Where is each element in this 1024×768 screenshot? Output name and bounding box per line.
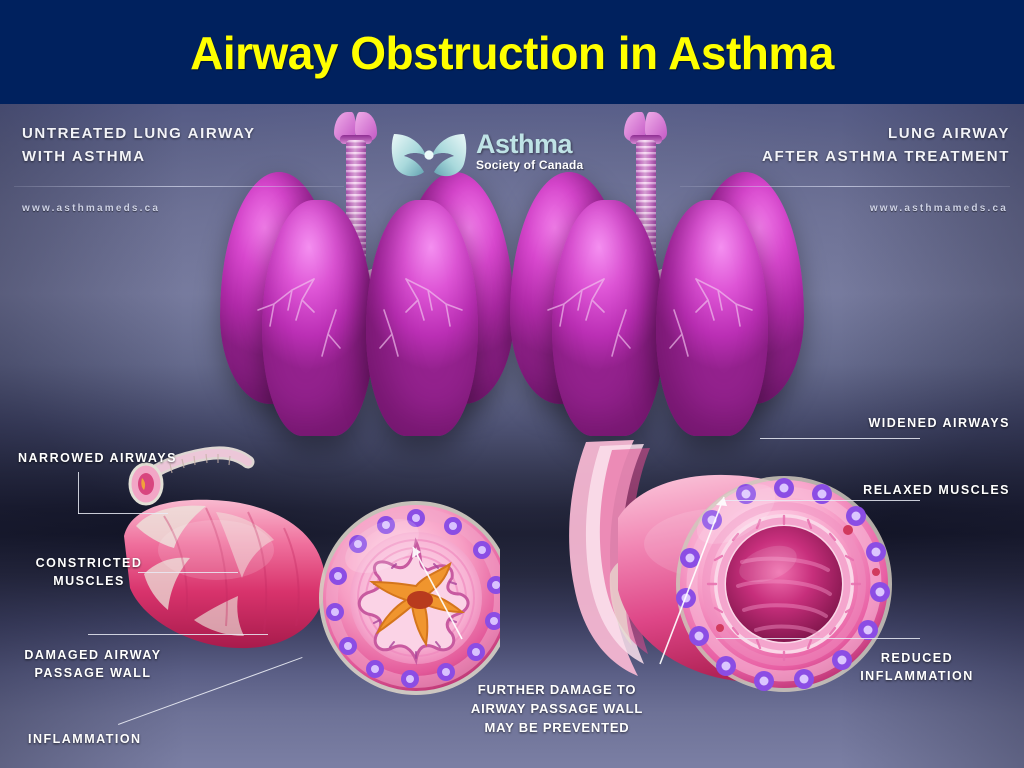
leader-narrowed-horizontal	[78, 513, 168, 514]
callout-reduced-line1: REDUCED	[822, 649, 1012, 667]
center-caption-line1: FURTHER DAMAGE TO	[432, 680, 682, 699]
slide-root: Airway Obstruction in Asthma	[0, 0, 1024, 768]
callout-reduced-line2: INFLAMMATION	[822, 667, 1012, 685]
callout-further-damage-prevented: FURTHER DAMAGE TO AIRWAY PASSAGE WALL MA…	[432, 680, 682, 737]
logo-tagline-text: Society of Canada	[476, 158, 583, 173]
header-right-line1: LUNG AIRWAY	[762, 122, 1010, 145]
leader-widened	[760, 438, 920, 439]
asthma-society-logo[interactable]: Asthma Society of Canada	[390, 126, 640, 192]
header-left-line1: UNTREATED LUNG AIRWAY	[22, 122, 256, 145]
logo-asthma-text: Asthma	[476, 130, 583, 158]
callout-damaged-line2: PASSAGE WALL	[8, 664, 178, 682]
page-title: Airway Obstruction in Asthma	[0, 30, 1024, 76]
callout-reduced-inflammation: REDUCED INFLAMMATION	[822, 649, 1012, 685]
leader-damaged	[88, 634, 268, 635]
callout-damaged-wall: DAMAGED AIRWAY PASSAGE WALL	[8, 646, 178, 682]
center-caption-line3: MAY BE PREVENTED	[432, 718, 682, 737]
leader-constricted	[138, 572, 238, 573]
header-label-right: LUNG AIRWAY AFTER ASTHMA TREATMENT	[762, 122, 1010, 168]
callout-damaged-line1: DAMAGED AIRWAY	[8, 646, 178, 664]
illustration-canvas: UNTREATED LUNG AIRWAY WITH ASTHMA LUNG A…	[0, 104, 1024, 768]
url-left[interactable]: www.asthmameds.ca	[22, 203, 160, 214]
leader-relaxed	[724, 500, 920, 501]
callout-widened-airways: WIDENED AIRWAYS	[780, 414, 1010, 432]
header-divider-left	[14, 186, 344, 187]
callout-constricted-line2: MUSCLES	[14, 572, 164, 590]
logo-wordmark: Asthma Society of Canada	[476, 130, 583, 173]
leader-narrowed-vertical	[78, 472, 79, 514]
header-label-left: UNTREATED LUNG AIRWAY WITH ASTHMA	[22, 122, 256, 168]
callout-constricted-line1: CONSTRICTED	[14, 554, 164, 572]
leader-reduced	[716, 638, 920, 639]
butterfly-logo-icon	[390, 128, 468, 190]
callout-relaxed-muscles: RELAXED MUSCLES	[780, 481, 1010, 499]
header-divider-right	[680, 186, 1010, 187]
header-left-line2: WITH ASTHMA	[22, 145, 256, 168]
header-right-line2: AFTER ASTHMA TREATMENT	[762, 145, 1010, 168]
callout-narrowed-airways: NARROWED AIRWAYS	[18, 449, 177, 467]
center-caption-line2: AIRWAY PASSAGE WALL	[432, 699, 682, 718]
url-right[interactable]: www.asthmameds.ca	[870, 203, 1008, 214]
title-bar: Airway Obstruction in Asthma	[0, 0, 1024, 104]
callout-inflammation: INFLAMMATION	[28, 730, 142, 748]
